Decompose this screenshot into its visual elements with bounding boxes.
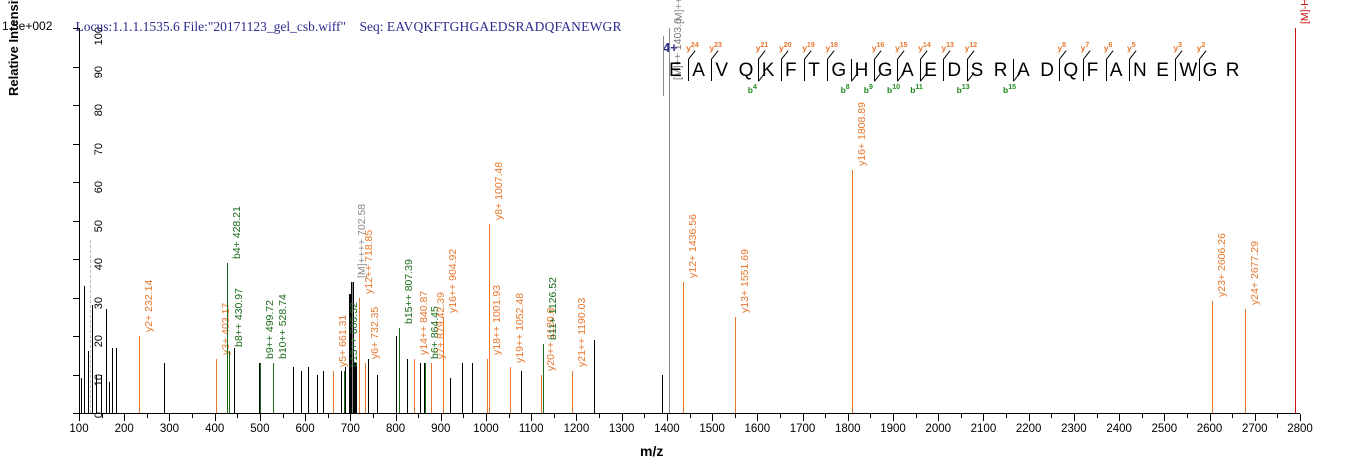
fragment-divider bbox=[1059, 59, 1060, 81]
x-axis-tick bbox=[938, 414, 939, 421]
y-axis-tick-label: 20 bbox=[93, 335, 105, 365]
b-ion-label: b8 bbox=[841, 84, 850, 95]
spectrum-peak-y bbox=[852, 170, 853, 413]
x-axis-tick-label: 500 bbox=[250, 423, 269, 435]
x-axis-tick bbox=[373, 414, 374, 418]
spectrum-peak-b bbox=[425, 363, 426, 413]
x-axis-tick-label: 300 bbox=[160, 423, 179, 435]
sequence-residue: F bbox=[785, 60, 797, 82]
y-axis-tick bbox=[73, 105, 79, 106]
peak-label: y2+ 232.14 bbox=[143, 280, 155, 332]
fragment-divider bbox=[781, 59, 782, 81]
spectrum-peak bbox=[323, 371, 324, 413]
spectrum-peak-y bbox=[1212, 301, 1213, 413]
spectrum-peak-y bbox=[489, 224, 490, 413]
spectrum-peak-y bbox=[735, 317, 736, 413]
x-axis-tick bbox=[1119, 414, 1120, 421]
sequence-residue: G bbox=[831, 60, 846, 82]
x-axis-tick bbox=[441, 414, 442, 421]
x-axis-tick bbox=[599, 414, 600, 418]
x-axis-tick bbox=[1051, 414, 1052, 418]
sequence-residue: W bbox=[1179, 60, 1197, 82]
sequence-residue: H bbox=[855, 60, 869, 82]
peak-label: b4+ 428.21 bbox=[231, 206, 243, 259]
y-axis-tick-label: 90 bbox=[93, 66, 105, 96]
spectrum-peak-b bbox=[273, 363, 274, 413]
spectrum-peak-y bbox=[414, 359, 415, 413]
peak-label: y8+ 1007.48 bbox=[493, 162, 505, 220]
x-axis-tick-label: 2600 bbox=[1197, 423, 1223, 435]
fragment-divider bbox=[711, 59, 712, 81]
sequence-residue: G bbox=[1203, 60, 1218, 82]
spectrum-peak-y bbox=[1245, 309, 1246, 413]
x-axis-tick bbox=[1300, 414, 1301, 421]
peak-label: y6+ 732.35 bbox=[369, 307, 381, 359]
x-axis-tick bbox=[825, 414, 826, 418]
b-ion-label: b10 bbox=[887, 84, 900, 95]
y-axis-tick-label: 0 bbox=[93, 412, 105, 442]
sequence-residue: E bbox=[669, 60, 682, 82]
x-axis-tick-label: 1000 bbox=[473, 423, 499, 435]
y-axis-tick-label: 100 bbox=[93, 27, 105, 57]
y-ion-label: y3 bbox=[1173, 42, 1182, 53]
x-axis-tick bbox=[509, 414, 510, 418]
peak-label: y16++ 904.92 bbox=[447, 249, 459, 313]
sequence-residue: D bbox=[947, 60, 961, 82]
sequence-residue: D bbox=[1040, 60, 1054, 82]
peak-label: b10++ 528.74 bbox=[277, 294, 289, 359]
x-axis-label: m/z bbox=[640, 443, 663, 459]
spectrum-peak bbox=[293, 367, 294, 413]
y-ion-label: y8 bbox=[1057, 42, 1066, 53]
y-axis-tick bbox=[73, 298, 79, 299]
sequence-residue: Q bbox=[1063, 60, 1078, 82]
spectrum-peak-y bbox=[365, 363, 366, 413]
x-axis-tick bbox=[215, 414, 216, 421]
y-axis-tick bbox=[73, 221, 79, 222]
spectrum-peak-loss bbox=[1295, 28, 1296, 413]
x-axis-tick bbox=[1210, 414, 1211, 421]
y-axis-tick-label: 70 bbox=[93, 143, 105, 173]
b-ion-label: b15 bbox=[1003, 84, 1016, 95]
fragment-divider bbox=[804, 59, 805, 81]
x-axis-tick bbox=[735, 414, 736, 418]
x-axis-tick-label: 2800 bbox=[1287, 423, 1313, 435]
x-axis-tick bbox=[283, 414, 284, 418]
sequence-residue: V bbox=[715, 60, 728, 82]
y-axis-tick-label: 30 bbox=[93, 297, 105, 327]
x-axis-tick bbox=[192, 414, 193, 418]
y-ion-label: y5 bbox=[1127, 42, 1136, 53]
x-axis-tick-label: 400 bbox=[205, 423, 224, 435]
y-axis-tick-label: 40 bbox=[93, 258, 105, 288]
spectrum-peak bbox=[81, 378, 82, 413]
x-axis-tick-label: 1600 bbox=[745, 423, 771, 435]
x-axis-tick-label: 900 bbox=[431, 423, 450, 435]
spectrum-peak-b bbox=[399, 328, 400, 413]
x-axis-tick bbox=[463, 414, 464, 418]
peak-label: b15++ 807.39 bbox=[403, 259, 415, 324]
x-axis-tick bbox=[260, 414, 261, 421]
x-axis-tick bbox=[102, 414, 103, 418]
x-axis-tick bbox=[848, 414, 849, 421]
y-axis-tick-label: 50 bbox=[93, 220, 105, 250]
sequence-residue: N bbox=[1133, 60, 1147, 82]
peak-label: [M]++ 1403.6 bbox=[673, 0, 685, 24]
spectrum-peak-y bbox=[431, 363, 432, 413]
x-axis-tick bbox=[554, 414, 555, 418]
y-ion-label: y23 bbox=[709, 42, 722, 53]
x-axis-tick-label: 600 bbox=[296, 423, 315, 435]
x-axis-tick bbox=[1255, 414, 1256, 421]
y-axis-tick bbox=[73, 67, 79, 68]
spectrum-peak bbox=[112, 348, 113, 413]
x-axis-tick-label: 2000 bbox=[925, 423, 951, 435]
x-axis-tick bbox=[757, 414, 758, 421]
x-axis-tick-label: 2400 bbox=[1106, 423, 1132, 435]
x-axis-tick bbox=[622, 414, 623, 421]
peak-label: y16+ 1808.89 bbox=[856, 103, 868, 167]
x-axis-tick-label: 100 bbox=[69, 423, 88, 435]
spectrum-peak-b bbox=[229, 351, 230, 413]
spectrum-peak bbox=[109, 382, 110, 413]
spectrum-peak bbox=[101, 375, 102, 414]
sequence-residue: S bbox=[971, 60, 984, 82]
x-axis-tick bbox=[667, 414, 668, 421]
spectrum-peak bbox=[594, 340, 595, 413]
x-axis-tick bbox=[780, 414, 781, 418]
spectrum-peak-y bbox=[443, 317, 444, 413]
x-axis-tick bbox=[1277, 414, 1278, 418]
y-axis-tick-label: 60 bbox=[93, 181, 105, 211]
spectrum-peak-precursor bbox=[669, 28, 670, 413]
x-axis-tick bbox=[147, 414, 148, 418]
fragment-divider bbox=[758, 59, 759, 81]
x-axis-tick-label: 1200 bbox=[564, 423, 590, 435]
spectrum-peak-y bbox=[333, 371, 334, 413]
x-axis-tick bbox=[1074, 414, 1075, 421]
y-ion-label: y18 bbox=[825, 42, 838, 53]
y-ion-label: y16 bbox=[872, 42, 885, 53]
peak-label: y23+ 2606.26 bbox=[1216, 233, 1228, 297]
x-axis-tick bbox=[328, 414, 329, 418]
sequence-residue: A bbox=[1110, 60, 1123, 82]
spectrum-peak-y bbox=[510, 367, 511, 413]
guide-line bbox=[90, 240, 91, 413]
x-axis-tick bbox=[237, 414, 238, 418]
x-axis-tick-label: 200 bbox=[115, 423, 134, 435]
spectrum-viewer: Locus:1.1.1.1535.6 File:"20171123_gel_cs… bbox=[0, 0, 1362, 473]
x-axis-tick bbox=[1187, 414, 1188, 418]
x-axis-tick bbox=[893, 414, 894, 421]
spectrum-peak bbox=[450, 378, 451, 413]
peak-label: y18++ 1001.93 bbox=[491, 285, 503, 355]
peak-label: y13+ 1551.69 bbox=[739, 249, 751, 313]
spectrum-peak-b bbox=[344, 371, 345, 413]
y-ion-label: y14 bbox=[918, 42, 931, 53]
x-axis-tick bbox=[690, 414, 691, 418]
fragment-divider bbox=[688, 59, 689, 81]
x-axis-tick bbox=[961, 414, 962, 418]
y-axis-tick bbox=[73, 144, 79, 145]
spectrum-peak bbox=[308, 367, 309, 413]
x-axis-tick bbox=[916, 414, 917, 418]
spectrum-peak bbox=[377, 375, 378, 414]
spectrum-peak-y bbox=[541, 375, 542, 414]
x-axis-tick bbox=[1029, 414, 1030, 421]
spectrum-peak bbox=[88, 351, 89, 413]
y-axis-tick bbox=[73, 182, 79, 183]
spectrum-peak bbox=[116, 348, 117, 413]
fragment-divider bbox=[874, 59, 875, 81]
x-axis-tick bbox=[644, 414, 645, 418]
peak-label: y24+ 2677.29 bbox=[1249, 241, 1261, 305]
x-axis-tick bbox=[712, 414, 713, 421]
y-axis-tick-label: 80 bbox=[93, 104, 105, 134]
spectrum-peak bbox=[92, 305, 93, 413]
x-axis-tick-label: 700 bbox=[341, 423, 360, 435]
spectrum-peak bbox=[96, 375, 97, 414]
x-axis-tick bbox=[1142, 414, 1143, 418]
spectrum-peak bbox=[234, 348, 235, 413]
sequence-residue: A bbox=[692, 60, 705, 82]
x-axis-tick bbox=[418, 414, 419, 418]
fragment-divider bbox=[1129, 59, 1130, 81]
spectrum-peak-y bbox=[572, 371, 573, 413]
sequence-residue: K bbox=[762, 60, 775, 82]
spectrum-peak bbox=[106, 309, 107, 413]
peak-label: y12++ 718.85 bbox=[363, 229, 375, 293]
x-axis-tick bbox=[983, 414, 984, 421]
peak-label: b9++ 499.72 bbox=[264, 300, 276, 359]
peak-label: y19++ 1052.48 bbox=[514, 293, 526, 363]
spectrum-peak bbox=[341, 371, 342, 413]
y-ion-label: y12 bbox=[965, 42, 978, 53]
spectrum-peak-y bbox=[359, 298, 360, 414]
sequence-residue: E bbox=[1156, 60, 1169, 82]
b-ion-label: b9 bbox=[864, 84, 873, 95]
fragment-divider bbox=[967, 59, 968, 81]
spectrum-peak bbox=[407, 359, 408, 413]
x-axis-tick-label: 1100 bbox=[519, 423, 544, 435]
x-axis-tick bbox=[1164, 414, 1165, 421]
spectrum-peak bbox=[84, 286, 85, 413]
spectrum-peak-y bbox=[487, 359, 488, 413]
x-axis-tick-label: 1800 bbox=[835, 423, 861, 435]
x-axis-tick bbox=[396, 414, 397, 421]
spectrum-peak bbox=[368, 359, 369, 413]
spectrum-peak bbox=[462, 363, 463, 413]
sequence-residue: G bbox=[878, 60, 893, 82]
peak-label: y21++ 1190.03 bbox=[576, 297, 588, 366]
x-axis-tick-label: 1400 bbox=[654, 423, 680, 435]
spectrum-peak bbox=[301, 371, 302, 413]
x-axis-tick bbox=[803, 414, 804, 421]
x-axis-tick-label: 1300 bbox=[609, 423, 635, 435]
y-ion-label: y15 bbox=[895, 42, 908, 53]
spectrum-peak-precursor bbox=[352, 282, 353, 413]
x-axis-tick bbox=[1006, 414, 1007, 418]
spectrum-peak bbox=[164, 363, 165, 413]
spectrum-peak-y bbox=[683, 282, 684, 413]
y-axis-tick bbox=[73, 375, 79, 376]
spectrum-peak-b bbox=[543, 344, 544, 413]
y-ion-label: y20 bbox=[779, 42, 792, 53]
b-ion-label: b11 bbox=[910, 84, 923, 95]
fragment-divider bbox=[1106, 59, 1107, 81]
y-axis-tick bbox=[73, 259, 79, 260]
peak-label: y12+ 1436.56 bbox=[687, 214, 699, 278]
x-axis-tick-label: 2300 bbox=[1061, 423, 1087, 435]
x-axis-tick bbox=[350, 414, 351, 421]
spectrum-peak bbox=[354, 363, 357, 413]
fragment-divider bbox=[1199, 59, 1200, 81]
peak-label: [M]-H2O+ 2788 bbox=[1299, 0, 1311, 24]
spectrum-peak-y bbox=[139, 336, 140, 413]
b-ion-label: b13 bbox=[957, 84, 970, 95]
fragment-divider bbox=[851, 59, 852, 81]
x-axis-tick bbox=[531, 414, 532, 421]
x-axis-tick bbox=[486, 414, 487, 421]
y-axis-label: Relative Intensity (%) bbox=[6, 0, 21, 96]
sequence-residue: T bbox=[808, 60, 820, 82]
peak-label: y3+ 403.17 bbox=[220, 303, 232, 355]
y-ion-label: y2 bbox=[1197, 42, 1206, 53]
y-axis-tick bbox=[73, 336, 79, 337]
spectrum-peak bbox=[317, 375, 318, 414]
x-axis-tick bbox=[1232, 414, 1233, 418]
x-axis-tick bbox=[305, 414, 306, 421]
y-ion-label: y24 bbox=[686, 42, 699, 53]
spectrum-peak-y bbox=[216, 359, 217, 413]
y-ion-label: y13 bbox=[941, 42, 954, 53]
x-axis-tick-label: 2200 bbox=[1016, 423, 1042, 435]
sequence-residue: A bbox=[901, 60, 914, 82]
x-axis-tick-label: 2100 bbox=[971, 423, 997, 435]
y-ion-label: y7 bbox=[1081, 42, 1090, 53]
x-axis-tick-label: 2700 bbox=[1242, 423, 1268, 435]
y-ion-label: y19 bbox=[802, 42, 815, 53]
sequence-residue: R bbox=[994, 60, 1008, 82]
spectrum-peak bbox=[420, 363, 421, 413]
sequence-residue: F bbox=[1087, 60, 1099, 82]
b-ion-label: b4 bbox=[748, 84, 757, 95]
sequence-residue: R bbox=[1226, 60, 1240, 82]
sequence-residue: Q bbox=[739, 60, 754, 82]
x-axis-tick bbox=[124, 414, 125, 421]
y-ion-label: y21 bbox=[756, 42, 769, 53]
x-axis-tick bbox=[79, 414, 80, 421]
peak-label: b11+ 1126.52 bbox=[547, 277, 559, 340]
x-axis-tick bbox=[870, 414, 871, 418]
peak-label: y7+ 879.42.39 bbox=[435, 292, 447, 359]
spectrum-peak-b bbox=[260, 363, 261, 413]
y-ion-label: y6 bbox=[1104, 42, 1113, 53]
x-axis-tick-label: 1700 bbox=[790, 423, 816, 435]
fragment-divider bbox=[943, 59, 944, 81]
fragment-divider bbox=[827, 59, 828, 81]
x-axis-tick-label: 2500 bbox=[1152, 423, 1178, 435]
y-axis-tick bbox=[73, 28, 79, 29]
spectrum-peak bbox=[521, 371, 522, 413]
precursor-bar bbox=[663, 36, 664, 96]
x-axis-tick-label: 1900 bbox=[880, 423, 906, 435]
x-axis-tick bbox=[1097, 414, 1098, 418]
fragment-divider bbox=[1175, 59, 1176, 81]
sequence-residue: A bbox=[1017, 60, 1030, 82]
x-axis-tick bbox=[169, 414, 170, 421]
x-axis-tick-label: 800 bbox=[386, 423, 405, 435]
x-axis-tick bbox=[576, 414, 577, 421]
x-axis-tick-label: 1500 bbox=[699, 423, 725, 435]
peak-label: b8++ 430.97 bbox=[233, 288, 245, 347]
spectrum-peak bbox=[662, 375, 663, 414]
spectrum-peak bbox=[472, 363, 473, 413]
fragment-divider bbox=[1083, 59, 1084, 81]
spectrum-peak bbox=[396, 336, 397, 413]
